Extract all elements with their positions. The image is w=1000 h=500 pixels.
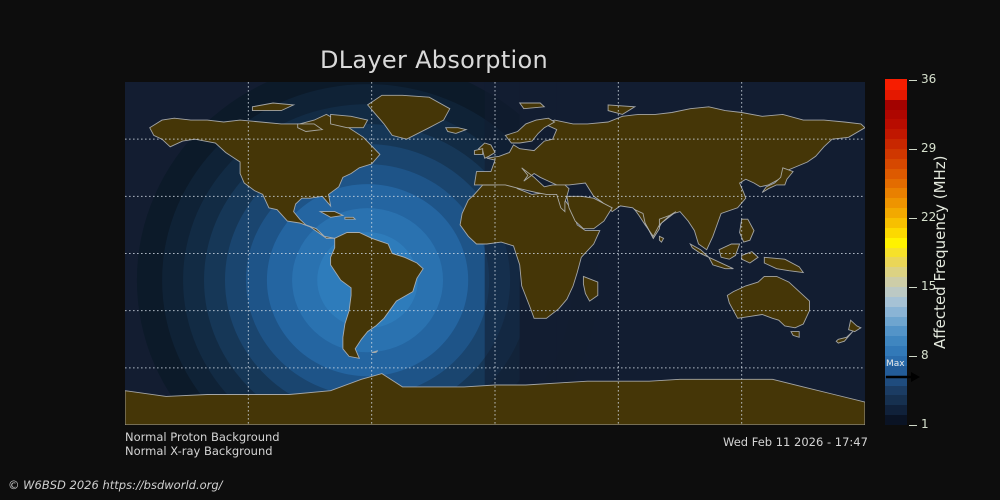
colorbar-segment xyxy=(885,277,907,287)
colorbar-max-marker: Max xyxy=(885,360,925,384)
colorbar-segment xyxy=(885,139,907,149)
colorbar-tick xyxy=(909,287,917,288)
colorbar-segment xyxy=(885,129,907,139)
colorbar-segment xyxy=(885,227,907,237)
colorbar-segment xyxy=(885,217,907,227)
colorbar-segment xyxy=(885,237,907,247)
colorbar-segment xyxy=(885,286,907,296)
colorbar-segment xyxy=(885,208,907,218)
map-svg xyxy=(125,82,865,425)
colorbar-tick xyxy=(909,80,917,81)
colorbar-segment xyxy=(885,168,907,178)
colorbar-segment xyxy=(885,99,907,109)
copyright-credit: © W6BSD 2026 https://bsdworld.org/ xyxy=(8,478,223,492)
colorbar-segment xyxy=(885,257,907,267)
colorbar-segment xyxy=(885,405,907,415)
colorbar-tick xyxy=(909,218,917,219)
colorbar-segment xyxy=(885,247,907,257)
colorbar-segment xyxy=(885,296,907,306)
colorbar-segment xyxy=(885,158,907,168)
colorbar-segment xyxy=(885,316,907,326)
colorbar-segment xyxy=(885,188,907,198)
colorbar-tick xyxy=(909,356,917,357)
colorbar-segment xyxy=(885,79,907,89)
colorbar-tick-label: 1 xyxy=(921,417,929,431)
colorbar-segment xyxy=(885,415,907,425)
colorbar-axis-label: Affected Frequency (MHz) xyxy=(930,80,950,425)
status-xray-background: Normal X-ray Background xyxy=(125,444,273,458)
page-title: DLayer Absorption xyxy=(0,46,868,74)
world-map-plot[interactable] xyxy=(125,82,865,425)
colorbar-segment xyxy=(885,326,907,336)
colorbar-segment xyxy=(885,148,907,158)
colorbar-segment xyxy=(885,336,907,346)
colorbar-segment xyxy=(885,395,907,405)
figure-canvas: DLayer Absorption 1815222936 Max Affecte… xyxy=(0,0,1000,500)
land-polygon xyxy=(345,217,355,219)
colorbar-segment xyxy=(885,306,907,316)
colorbar-segment xyxy=(885,109,907,119)
max-marker-label: Max xyxy=(886,359,905,369)
colorbar-segment xyxy=(885,198,907,208)
colorbar-segment xyxy=(885,89,907,99)
status-proton-background: Normal Proton Background xyxy=(125,430,280,444)
colorbar-segment xyxy=(885,267,907,277)
colorbar-segment xyxy=(885,346,907,356)
colorbar-segment xyxy=(885,385,907,395)
arrow-right-icon xyxy=(886,372,920,382)
timestamp: Wed Feb 11 2026 - 17:47 xyxy=(723,435,868,449)
colorbar-tick xyxy=(909,149,917,150)
colorbar-segment xyxy=(885,178,907,188)
colorbar-tick xyxy=(909,425,917,426)
colorbar-segment xyxy=(885,119,907,129)
